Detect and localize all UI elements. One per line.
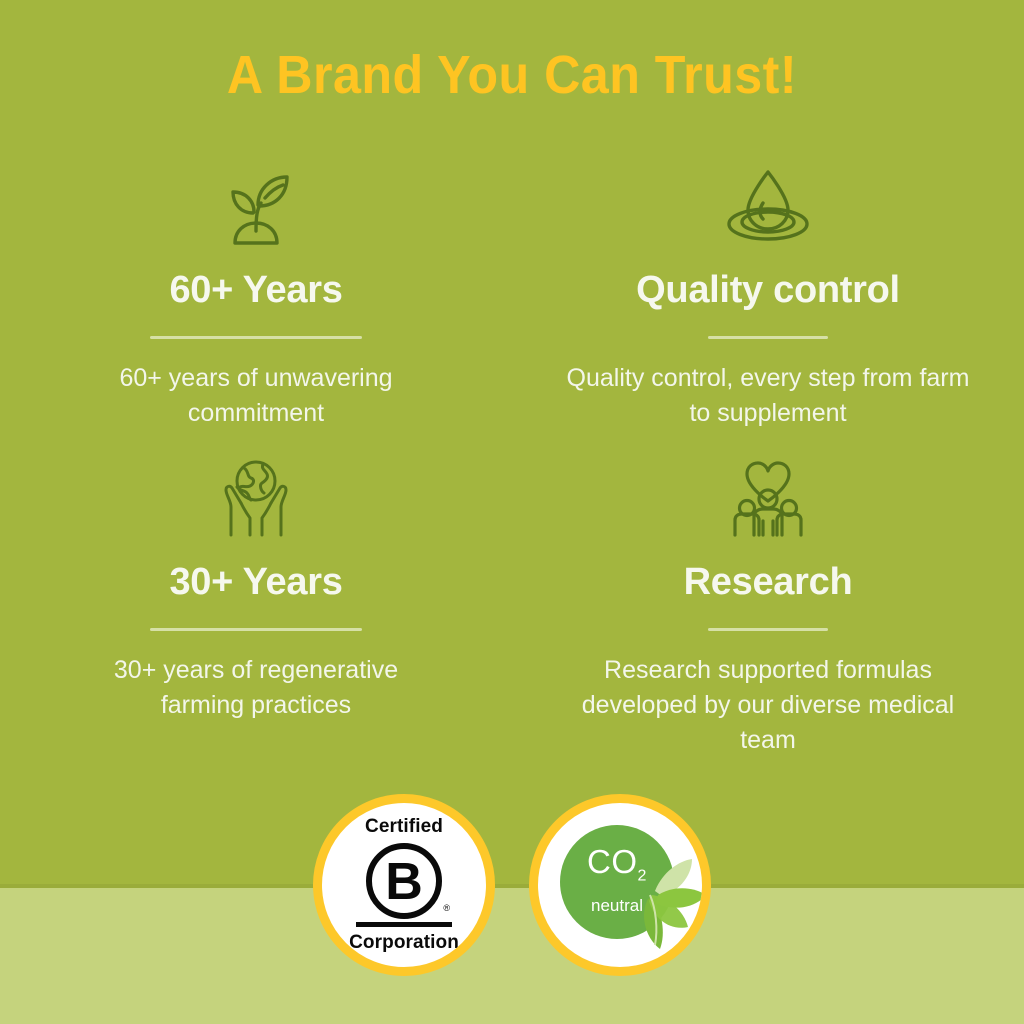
co2-neutral-badge: CO2 neutral <box>529 794 711 976</box>
feature-divider <box>150 336 362 339</box>
heart-over-people-icon <box>722 454 814 544</box>
certification-badges: Certified B ® Corporation <box>0 794 1024 976</box>
page-title: A Brand You Can Trust! <box>36 44 988 106</box>
co2-subscript: 2 <box>638 868 647 885</box>
feature-body: 60+ years of unwavering commitment <box>86 361 426 431</box>
feature-body: Research supported formulas developed by… <box>558 653 978 758</box>
sprout-icon <box>210 162 302 252</box>
feature-card-60-years: 60+ Years 60+ years of unwavering commit… <box>0 150 512 442</box>
bcorp-corporation-label: Corporation <box>349 932 459 954</box>
bcorp-rule <box>356 922 452 927</box>
co2-content: CO2 neutral <box>538 803 702 967</box>
co2-text-block: CO2 neutral <box>560 845 674 915</box>
feature-heading: Research <box>684 560 853 604</box>
feature-card-research: Research Research supported formulas dev… <box>512 442 1024 758</box>
bcorp-content: Certified B ® Corporation <box>322 817 486 954</box>
co2-formula: CO <box>587 843 638 880</box>
feature-divider <box>708 628 828 631</box>
feature-card-quality-control: Quality control Quality control, every s… <box>512 150 1024 442</box>
bcorp-registered-mark: ® <box>443 904 450 913</box>
bcorp-b-mark-icon: B <box>365 842 443 920</box>
co2-neutral-label: neutral <box>560 896 674 915</box>
feature-body: 30+ years of regenerative farming practi… <box>86 653 426 723</box>
feature-card-30-years: 30+ Years 30+ years of regenerative farm… <box>0 442 512 758</box>
water-drop-icon <box>722 162 814 252</box>
bcorp-certified-label: Certified <box>365 817 443 837</box>
co2-main-label: CO2 <box>560 845 674 894</box>
feature-heading: 30+ Years <box>169 560 342 604</box>
feature-heading: Quality control <box>636 268 900 312</box>
feature-divider <box>150 628 362 631</box>
certified-b-corporation-badge: Certified B ® Corporation <box>313 794 495 976</box>
feature-heading: 60+ Years <box>169 268 342 312</box>
feature-divider <box>708 336 828 339</box>
feature-grid: 60+ Years 60+ years of unwavering commit… <box>0 150 1024 758</box>
hands-holding-globe-icon <box>210 454 302 544</box>
feature-body: Quality control, every step from farm to… <box>558 361 978 431</box>
svg-text:B: B <box>385 853 423 911</box>
promo-poster: A Brand You Can Trust! 60+ Years 60+ yea… <box>0 0 1024 1024</box>
